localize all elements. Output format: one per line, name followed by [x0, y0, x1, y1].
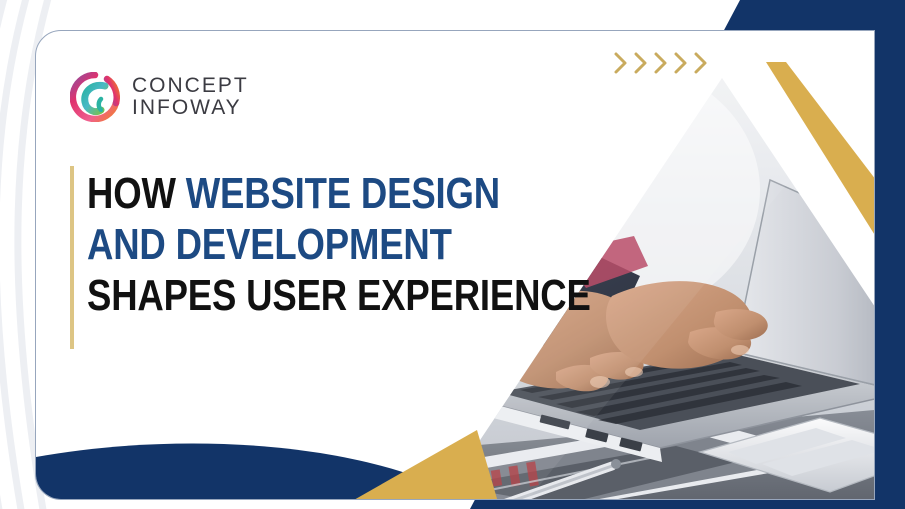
headline-line-1: HOW WEBSITE DESIGN	[87, 168, 485, 219]
chevron-right-icon	[672, 50, 690, 76]
chevron-right-icon	[632, 50, 650, 76]
headline-line-3: SHAPES USER EXPERIENCE	[87, 270, 485, 321]
chevron-right-icon	[652, 50, 670, 76]
brand-name-line-1: CONCEPT	[132, 75, 249, 97]
headline-line-1-plain: HOW	[87, 169, 186, 218]
brand-wordmark: CONCEPT INFOWAY	[132, 75, 249, 119]
concept-infoway-swirl-logo-icon	[70, 72, 120, 122]
content-card: CONCEPT INFOWAY	[35, 30, 875, 500]
brand-logo[interactable]: CONCEPT INFOWAY	[70, 72, 249, 122]
chevron-right-icon	[612, 50, 630, 76]
headline-accent-bar	[70, 166, 74, 349]
chevron-right-icon	[692, 50, 710, 76]
page-title: HOW WEBSITE DESIGN AND DEVELOPMENT SHAPE…	[87, 168, 485, 321]
brand-name-line-2: INFOWAY	[132, 97, 249, 119]
chevron-group	[612, 50, 710, 76]
headline-line-1-accent: WEBSITE DESIGN	[186, 169, 500, 218]
blog-banner: CONCEPT INFOWAY	[0, 0, 905, 509]
headline-line-2: AND DEVELOPMENT	[87, 219, 485, 270]
